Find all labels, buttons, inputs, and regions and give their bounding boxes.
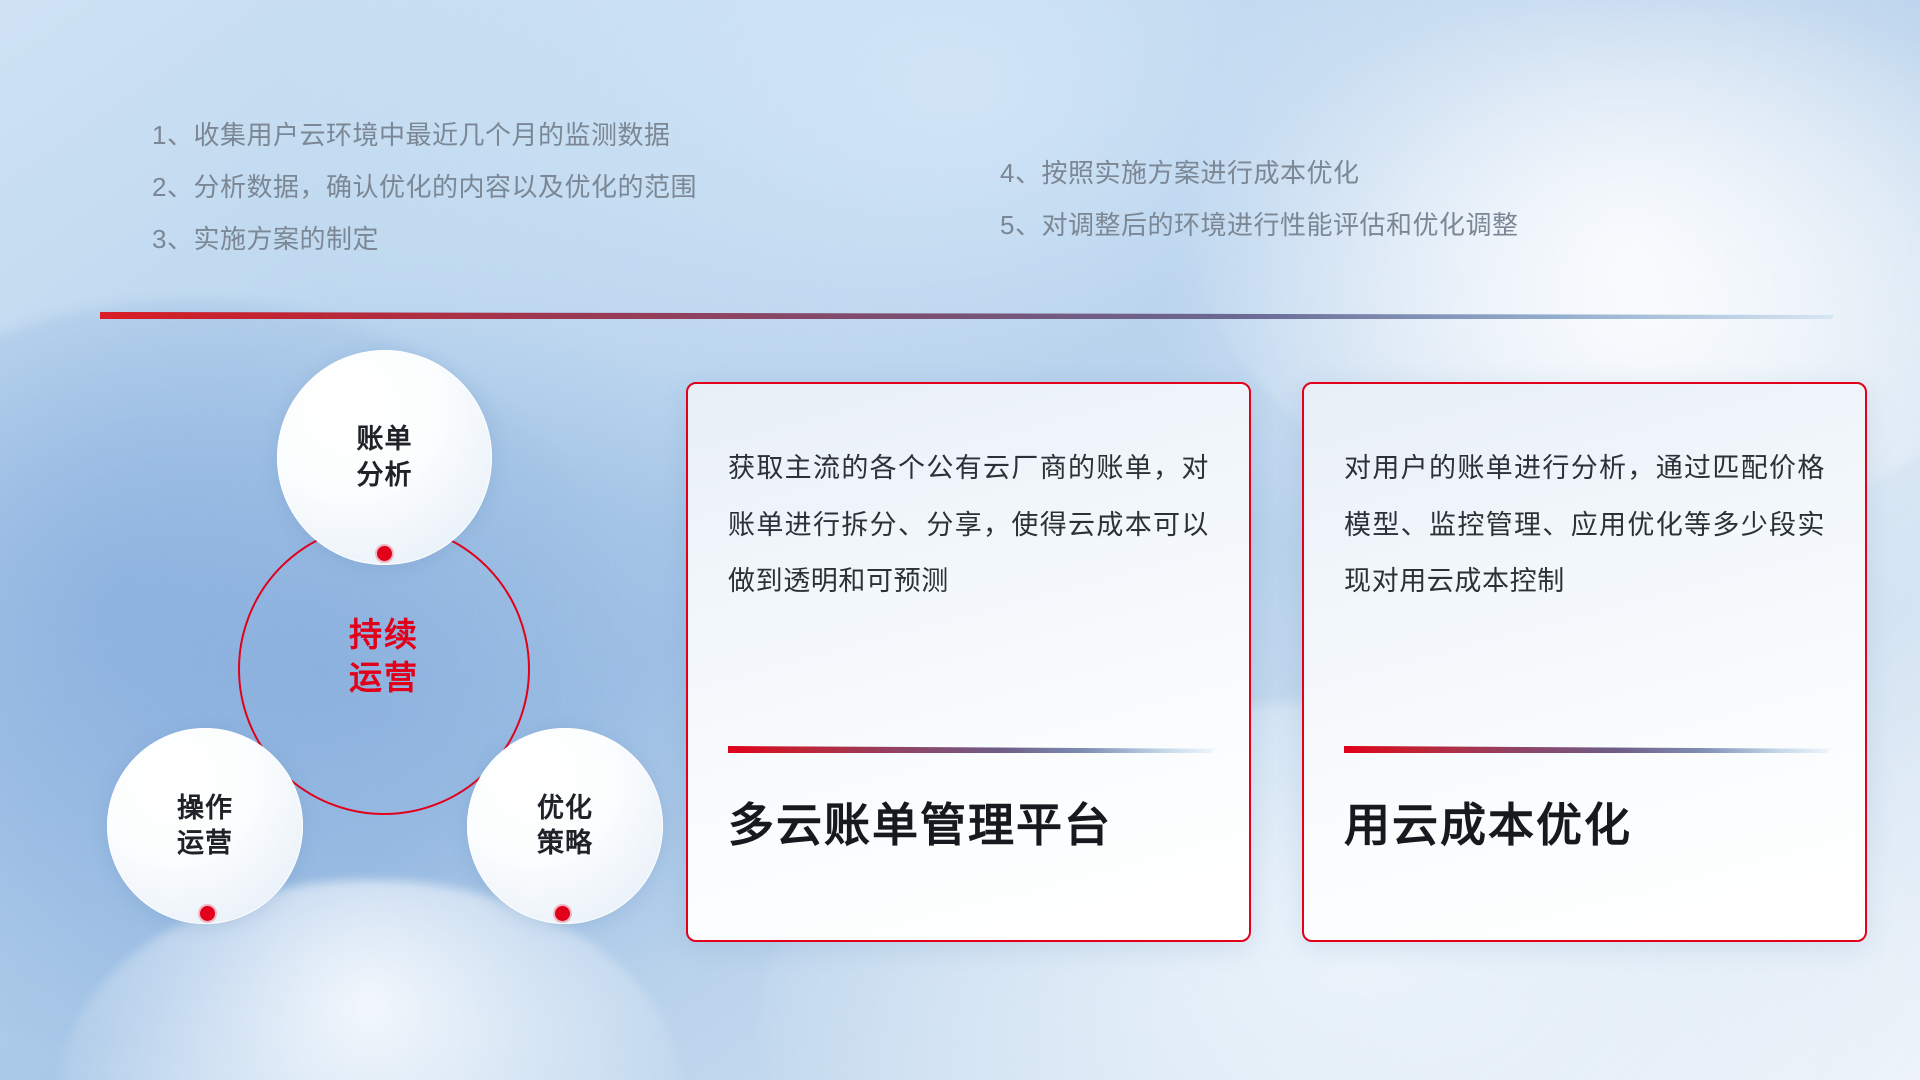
info-card-multi-cloud-billing[interactable]: 获取主流的各个公有云厂商的账单，对账单进行拆分、分享，使得云成本可以做到透明和可… <box>686 382 1251 942</box>
venn-node-bill-analysis[interactable]: 账单 分析 <box>277 350 492 565</box>
card-title: 多云账单管理平台 <box>728 798 1213 853</box>
venn-node-label-line1: 优化 <box>537 793 593 823</box>
bullet-list-right: 4、按照实施方案进行成本优化 5、对调整后的环境进行性能评估和优化调整 <box>1000 160 1518 238</box>
venn-node-operations[interactable]: 操作 运营 <box>107 728 303 924</box>
gradient-divider-card <box>1344 746 1829 753</box>
card-title: 用云成本优化 <box>1344 798 1829 853</box>
venn-node-label: 账单 分析 <box>357 422 413 492</box>
venn-node-label-line1: 账单 <box>357 424 413 454</box>
venn-node-label-line2: 运营 <box>177 828 233 858</box>
bullet-list-left: 1、收集用户云环境中最近几个月的监测数据 2、分析数据，确认优化的内容以及优化的… <box>152 122 697 252</box>
card-body-text: 对用户的账单进行分析，通过匹配价格模型、监控管理、应用优化等多少段实现对用云成本… <box>1344 440 1825 610</box>
venn-node-label-line2: 分析 <box>357 460 413 490</box>
bullet-item: 2、分析数据，确认优化的内容以及优化的范围 <box>152 174 697 200</box>
venn-node-label: 优化 策略 <box>537 791 593 861</box>
bullet-item: 3、实施方案的制定 <box>152 226 697 252</box>
venn-center-label-line1: 持续 <box>349 616 419 653</box>
venn-center-label-line2: 运营 <box>349 659 419 696</box>
bullet-item: 5、对调整后的环境进行性能评估和优化调整 <box>1000 212 1518 238</box>
venn-node-label: 操作 运营 <box>177 791 233 861</box>
slide-canvas: 1、收集用户云环境中最近几个月的监测数据 2、分析数据，确认优化的内容以及优化的… <box>0 0 1920 1080</box>
gradient-divider-card <box>728 746 1213 753</box>
bullet-item: 4、按照实施方案进行成本优化 <box>1000 160 1518 186</box>
venn-node-label-line2: 策略 <box>537 828 593 858</box>
venn-node-label-line1: 操作 <box>177 793 233 823</box>
venn-center-label: 持续 运营 <box>284 614 484 700</box>
bullet-item: 1、收集用户云环境中最近几个月的监测数据 <box>152 122 697 148</box>
venn-connector-dot-top <box>377 546 392 561</box>
venn-diagram: 账单 分析 操作 运营 优化 策略 持续 运营 <box>90 350 650 960</box>
card-body-text: 获取主流的各个公有云厂商的账单，对账单进行拆分、分享，使得云成本可以做到透明和可… <box>728 440 1209 610</box>
venn-connector-dot-left <box>200 906 215 921</box>
info-card-cloud-cost-optimization[interactable]: 对用户的账单进行分析，通过匹配价格模型、监控管理、应用优化等多少段实现对用云成本… <box>1302 382 1867 942</box>
venn-node-optimization-strategy[interactable]: 优化 策略 <box>467 728 663 924</box>
gradient-divider-top <box>100 312 1834 319</box>
venn-connector-dot-right <box>555 906 570 921</box>
